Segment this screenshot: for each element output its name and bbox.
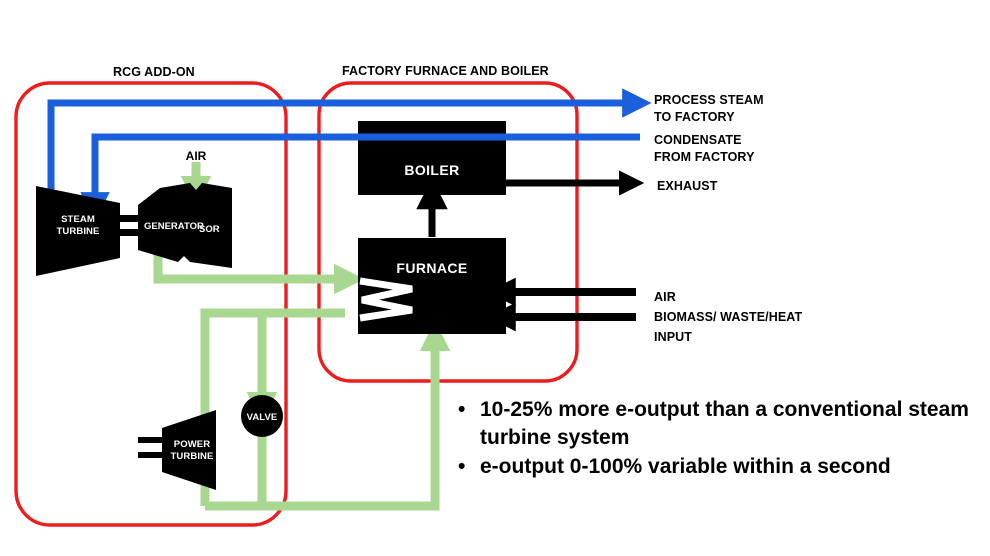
shaft-upper [118,215,140,222]
pipe-furnace-return [205,313,345,345]
bullet-text: e-output 0-100% variable within a second [480,453,990,481]
power-turbine-body [162,410,216,490]
label-exhaust: EXHAUST [657,179,718,193]
label-furnace-air: AIR [654,290,676,304]
bullet-item: • e-output 0-100% variable within a seco… [458,453,990,481]
label-condensate-line2: FROM FACTORY [654,150,755,164]
steam-turbine-label-line1: STEAM [61,214,95,225]
generator-label: GENERATOR [144,221,204,232]
label-condensate-line1: CONDENSATE [654,133,742,147]
power-turbine-shaft-upper [138,437,164,443]
boiler-body [358,121,506,195]
bullet-marker: • [458,396,480,424]
boiler-label: BOILER [404,162,459,178]
zone-title-factory: FACTORY FURNACE AND BOILER [342,64,549,78]
power-turbine-label-line2: TURBINE [171,451,214,462]
label-process-steam-line2: TO FACTORY [654,110,735,124]
steam-turbine-label-line2: TURBINE [57,226,100,237]
shaft-lower [118,229,140,236]
benefits-bullet-list: • 10-25% more e-output than a convention… [458,396,990,483]
bullet-item: • 10-25% more e-output than a convention… [458,396,990,451]
air-inlet-label: AIR [186,149,207,163]
pipe-bottom-return-to-furnace [205,345,435,506]
label-process-steam-line1: PROCESS STEAM [654,93,764,107]
pipe-process-steam [51,103,628,215]
power-turbine-label-line1: POWER [174,439,210,450]
label-furnace-biomass: BIOMASS/ WASTE/HEAT [654,310,802,324]
bullet-text: 10-25% more e-output than a conventional… [480,396,990,451]
power-turbine-shaft-lower [138,452,164,458]
furnace-label: FURNACE [396,260,467,276]
generator-label-overlap: SOR [199,224,220,235]
bullet-marker: • [458,453,480,481]
rcg-addon-boundary [16,83,286,525]
diagram-canvas: RCG ADD-ON FACTORY FURNACE AND BOILER ST… [0,0,990,556]
label-furnace-input: INPUT [654,330,692,344]
zone-title-rcg: RCG ADD-ON [113,65,195,79]
valve-label: VALVE [247,412,278,423]
